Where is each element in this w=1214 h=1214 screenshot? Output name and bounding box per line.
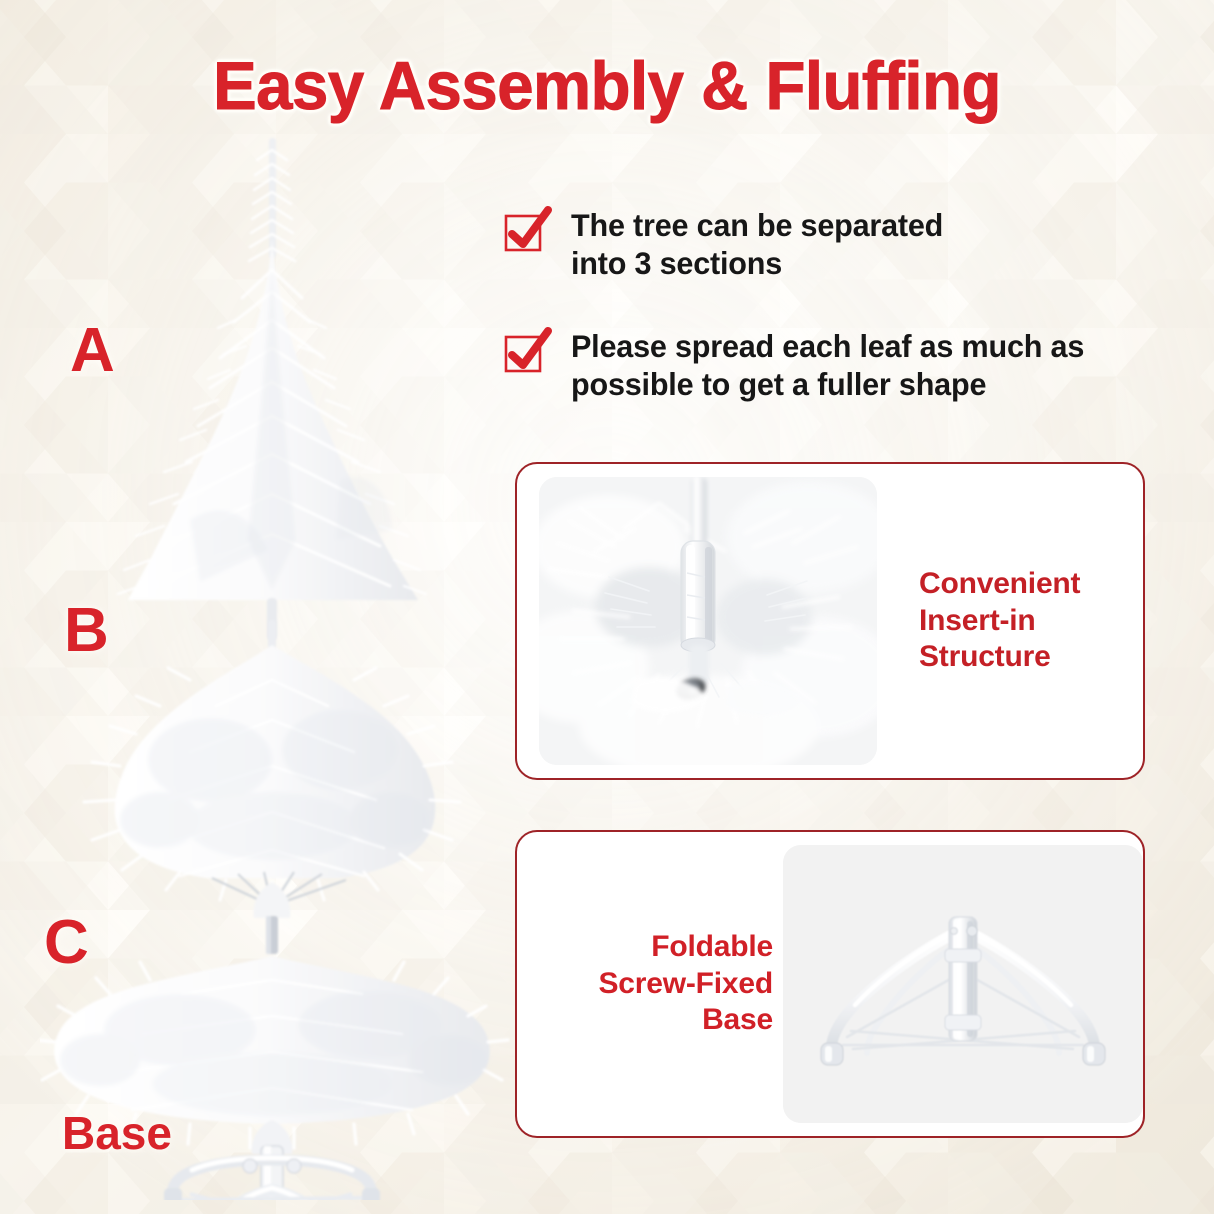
card-label-foldable-base: Foldable Screw-Fixed Base (551, 929, 773, 1039)
foldable-tree-stand-photo (783, 845, 1143, 1123)
tree-stand (164, 1146, 380, 1200)
feature-card-insert-structure: Convenient Insert-in Structure (515, 462, 1145, 780)
card-label-insert-structure: Convenient Insert-in Structure (919, 566, 1080, 676)
bullet-item: Please spread each leaf as much as possi… (505, 327, 1165, 404)
feature-card-foldable-base: Foldable Screw-Fixed Base (515, 830, 1145, 1138)
section-label-base: Base (62, 1110, 172, 1156)
bullet-text: Please spread each leaf as much as possi… (571, 327, 1084, 404)
section-label-b: B (64, 600, 109, 662)
checkbox-checked-icon (505, 334, 543, 372)
christmas-tree-illustration (40, 120, 510, 1200)
feature-bullet-list: The tree can be separated into 3 section… (505, 206, 1165, 448)
tree-pole-insert-photo (539, 477, 877, 765)
section-label-c: C (44, 912, 89, 974)
bullet-text: The tree can be separated into 3 section… (571, 206, 943, 283)
page-title: Easy Assembly & Fluffing (24, 52, 1189, 120)
bullet-item: The tree can be separated into 3 section… (505, 206, 1165, 283)
section-label-a: A (70, 320, 115, 382)
infographic-canvas: Easy Assembly & Fluffing (0, 0, 1214, 1214)
checkbox-checked-icon (505, 213, 543, 251)
